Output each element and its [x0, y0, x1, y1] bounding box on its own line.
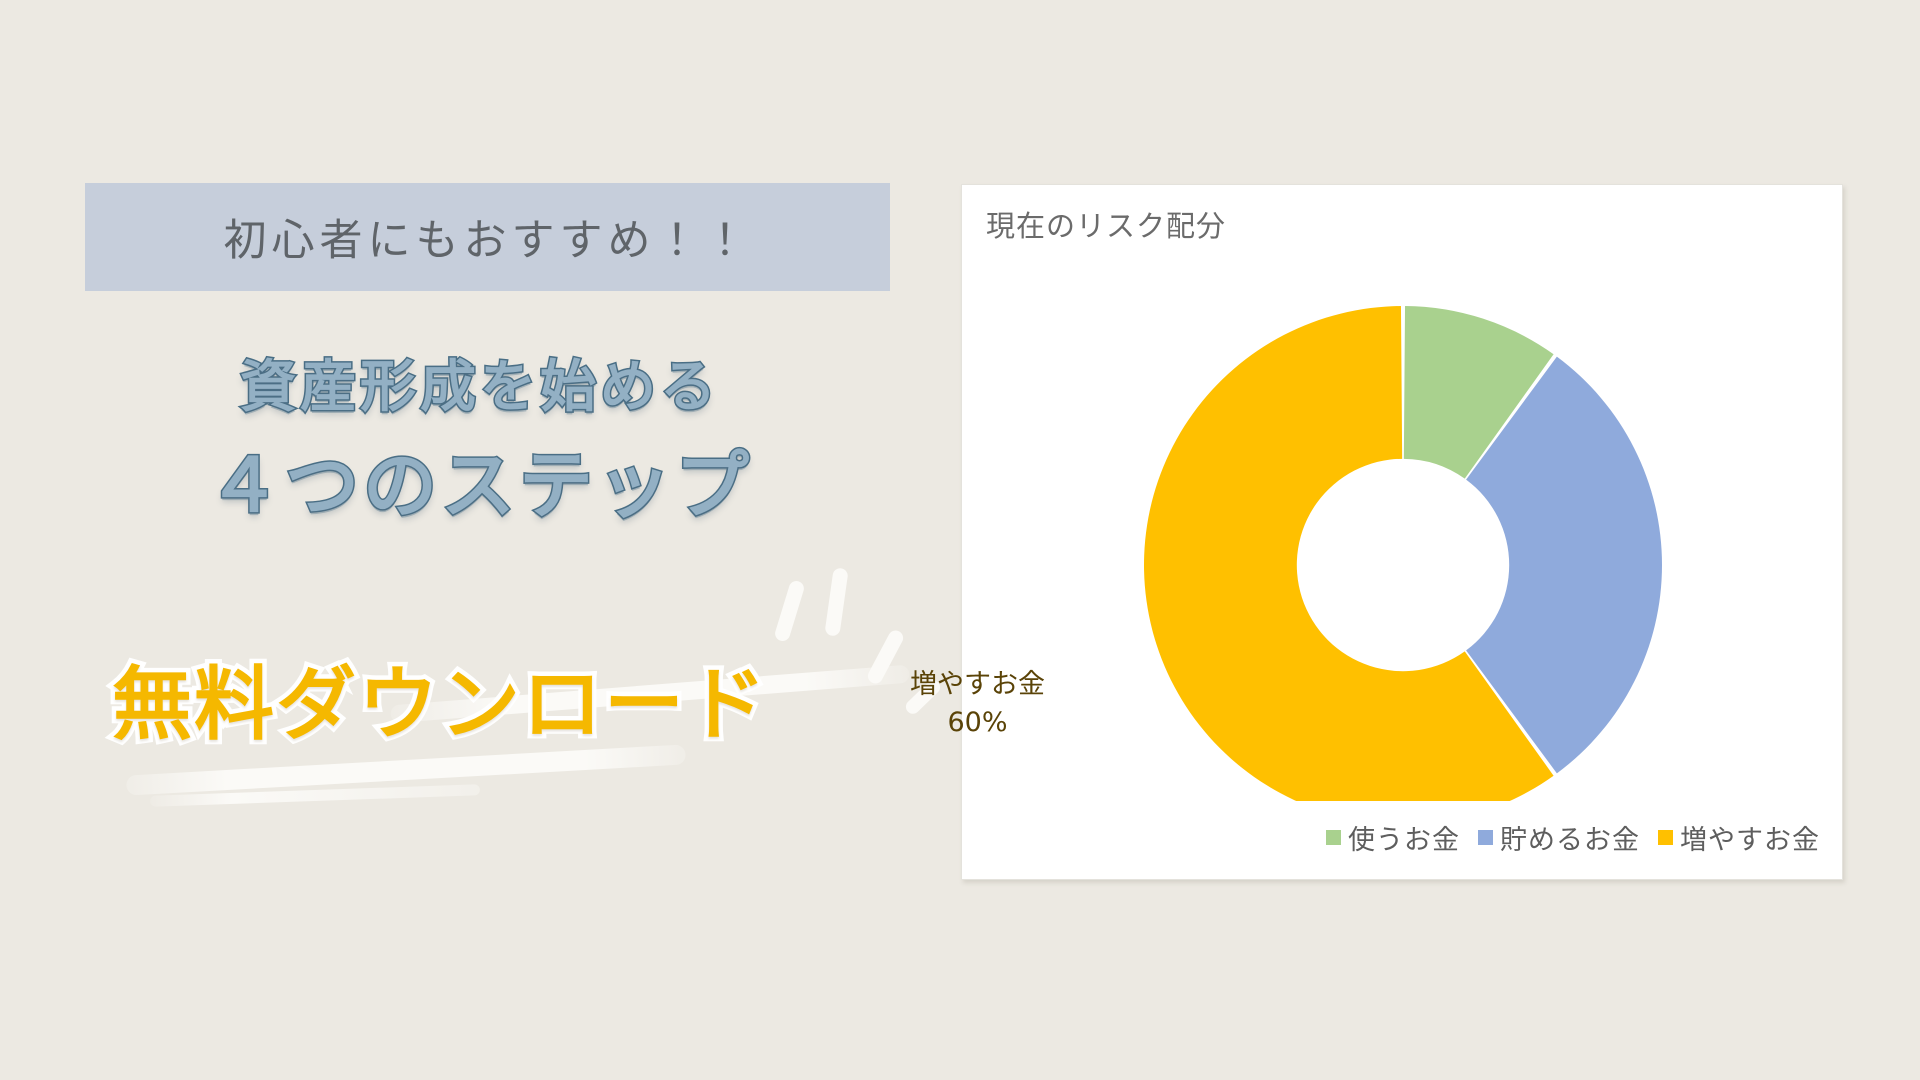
recommendation-banner-label: 初心者にもおすすめ！！: [224, 206, 752, 268]
slide-canvas: 初心者にもおすすめ！！ 資産形成を始める ４つのステップ 無料ダウンロード 現在…: [0, 0, 1920, 1080]
legend-item[interactable]: 増やすお金: [1658, 818, 1820, 857]
chart-legend: 使うお金貯めるお金増やすお金: [962, 818, 1820, 857]
donut-chart-svg: [962, 221, 1844, 801]
promo-headline: 資産形成を始める ４つのステップ: [0, 355, 960, 530]
recommendation-banner: 初心者にもおすすめ！！: [85, 183, 890, 291]
dash-decoration-icon: [903, 677, 943, 716]
legend-swatch-icon: [1478, 830, 1493, 845]
donut-slice-group: [1144, 306, 1662, 801]
headline-line-1: 資産形成を始める: [0, 355, 960, 421]
legend-item-label: 増やすお金: [1680, 818, 1820, 857]
promo-panel: 初心者にもおすすめ！！ 資産形成を始める ４つのステップ 無料ダウンロード: [0, 0, 960, 1080]
free-download-cta-label[interactable]: 無料ダウンロード: [0, 640, 880, 756]
legend-item-label: 使うお金: [1348, 818, 1460, 857]
legend-swatch-icon: [1658, 830, 1673, 845]
legend-item[interactable]: 貯めるお金: [1478, 818, 1640, 857]
donut-chart: [962, 221, 1844, 801]
risk-allocation-chart-card: 現在のリスク配分 使うお金 10% 貯めるお金 30% 増やすお金 60% 使う…: [961, 184, 1843, 880]
legend-item-label: 貯めるお金: [1500, 818, 1640, 857]
headline-line-2: ４つのステップ: [0, 443, 960, 530]
dash-decoration-icon: [773, 579, 805, 643]
dash-decoration-icon: [824, 567, 848, 636]
legend-item[interactable]: 使うお金: [1326, 818, 1460, 857]
brush-underline-decoration-icon: [150, 784, 480, 807]
legend-swatch-icon: [1326, 830, 1341, 845]
